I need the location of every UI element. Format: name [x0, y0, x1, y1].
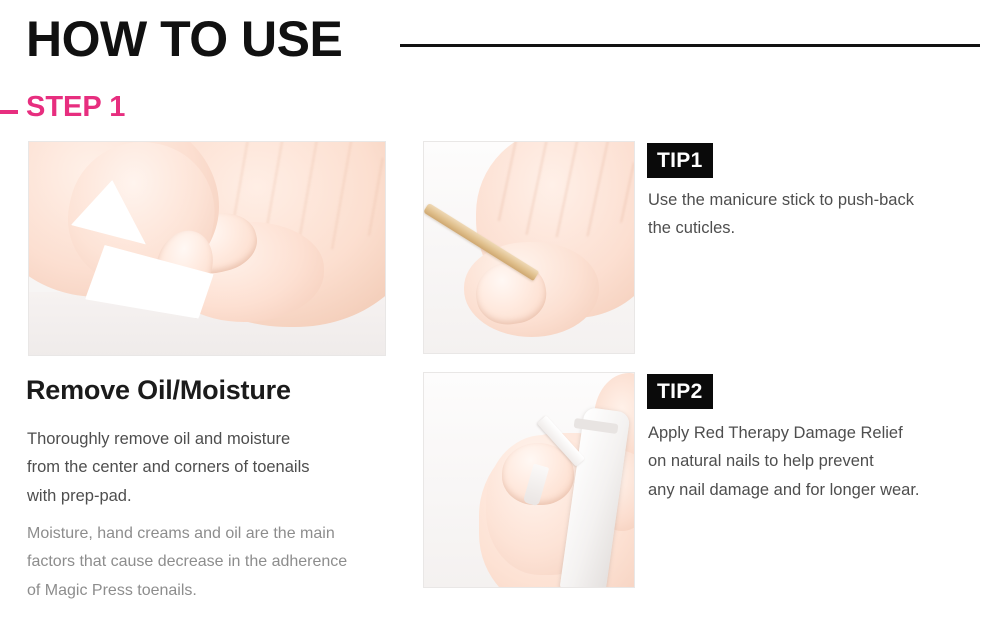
- title-divider-rule: [400, 44, 980, 47]
- tip2-text: Apply Red Therapy Damage Relief on natur…: [648, 419, 993, 504]
- photo-applicator-brush-on-toenail: [423, 372, 635, 588]
- step-dash-icon: [0, 110, 18, 114]
- how-to-use-page: HOW TO USE STEP 1 Remo: [0, 0, 1000, 638]
- photo-prep-pad-wiping-toenail: [28, 141, 386, 356]
- section-note-text: Moisture, hand creams and oil are the ma…: [27, 520, 412, 605]
- page-title: HOW TO USE: [26, 14, 342, 64]
- tip1-text: Use the manicure stick to push-back the …: [648, 186, 988, 243]
- section-heading: Remove Oil/Moisture: [26, 376, 291, 406]
- photo-manicure-stick-on-toe: [423, 141, 635, 354]
- tip2-badge: TIP2: [647, 374, 713, 409]
- tip1-badge: TIP1: [647, 143, 713, 178]
- section-body-text: Thoroughly remove oil and moisture from …: [27, 425, 407, 510]
- toes-row-shape: [486, 141, 635, 237]
- step-label: STEP 1: [26, 93, 125, 122]
